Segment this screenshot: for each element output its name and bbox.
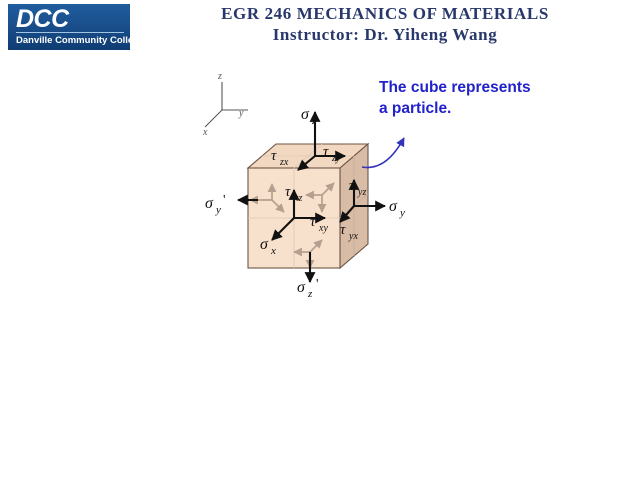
svg-text:z: z (311, 115, 317, 127)
svg-text:yz: yz (357, 187, 366, 198)
label-sigma-z: σ z (301, 106, 317, 127)
svg-text:yx: yx (348, 231, 358, 242)
svg-text:xy: xy (318, 223, 328, 234)
svg-text:y: y (399, 207, 405, 219)
axis-x-line (205, 110, 222, 127)
svg-text:': ' (316, 277, 319, 292)
label-sigma-z-prime: σ z ' (297, 277, 319, 300)
stress-cube-diagram: z y x (0, 0, 640, 480)
svg-text:τ: τ (285, 184, 291, 200)
svg-text:x: x (270, 245, 276, 257)
callout-line-2: a particle. (379, 98, 609, 119)
svg-text:τ: τ (349, 178, 355, 194)
svg-text:σ: σ (389, 198, 398, 215)
svg-text:zy: zy (331, 153, 341, 164)
svg-text:': ' (223, 193, 226, 208)
svg-text:τ: τ (310, 214, 316, 230)
svg-text:y: y (215, 204, 221, 216)
coordinate-axes-labels: z y x (202, 71, 244, 138)
axis-label-x: x (202, 127, 208, 138)
svg-text:σ: σ (297, 279, 306, 296)
axis-label-y: y (238, 108, 244, 119)
label-sigma-y: σ y (389, 198, 405, 219)
svg-text:xz: xz (293, 193, 302, 204)
svg-text:τ: τ (340, 222, 346, 238)
svg-text:z: z (307, 288, 313, 300)
axis-label-z: z (217, 71, 222, 82)
svg-text:τ: τ (323, 144, 329, 160)
svg-text:τ: τ (271, 148, 277, 164)
callout-text: The cube represents a particle. (379, 77, 609, 119)
svg-text:σ: σ (301, 106, 310, 123)
label-sigma-y-prime: σ y ' (205, 193, 226, 216)
coordinate-axes (205, 82, 248, 127)
slide-canvas: DCC Danville Community College EGR 246 M… (0, 0, 640, 480)
callout-line-1: The cube represents (379, 77, 609, 98)
svg-text:σ: σ (260, 236, 269, 253)
svg-text:σ: σ (205, 195, 214, 212)
svg-text:zx: zx (279, 157, 289, 168)
